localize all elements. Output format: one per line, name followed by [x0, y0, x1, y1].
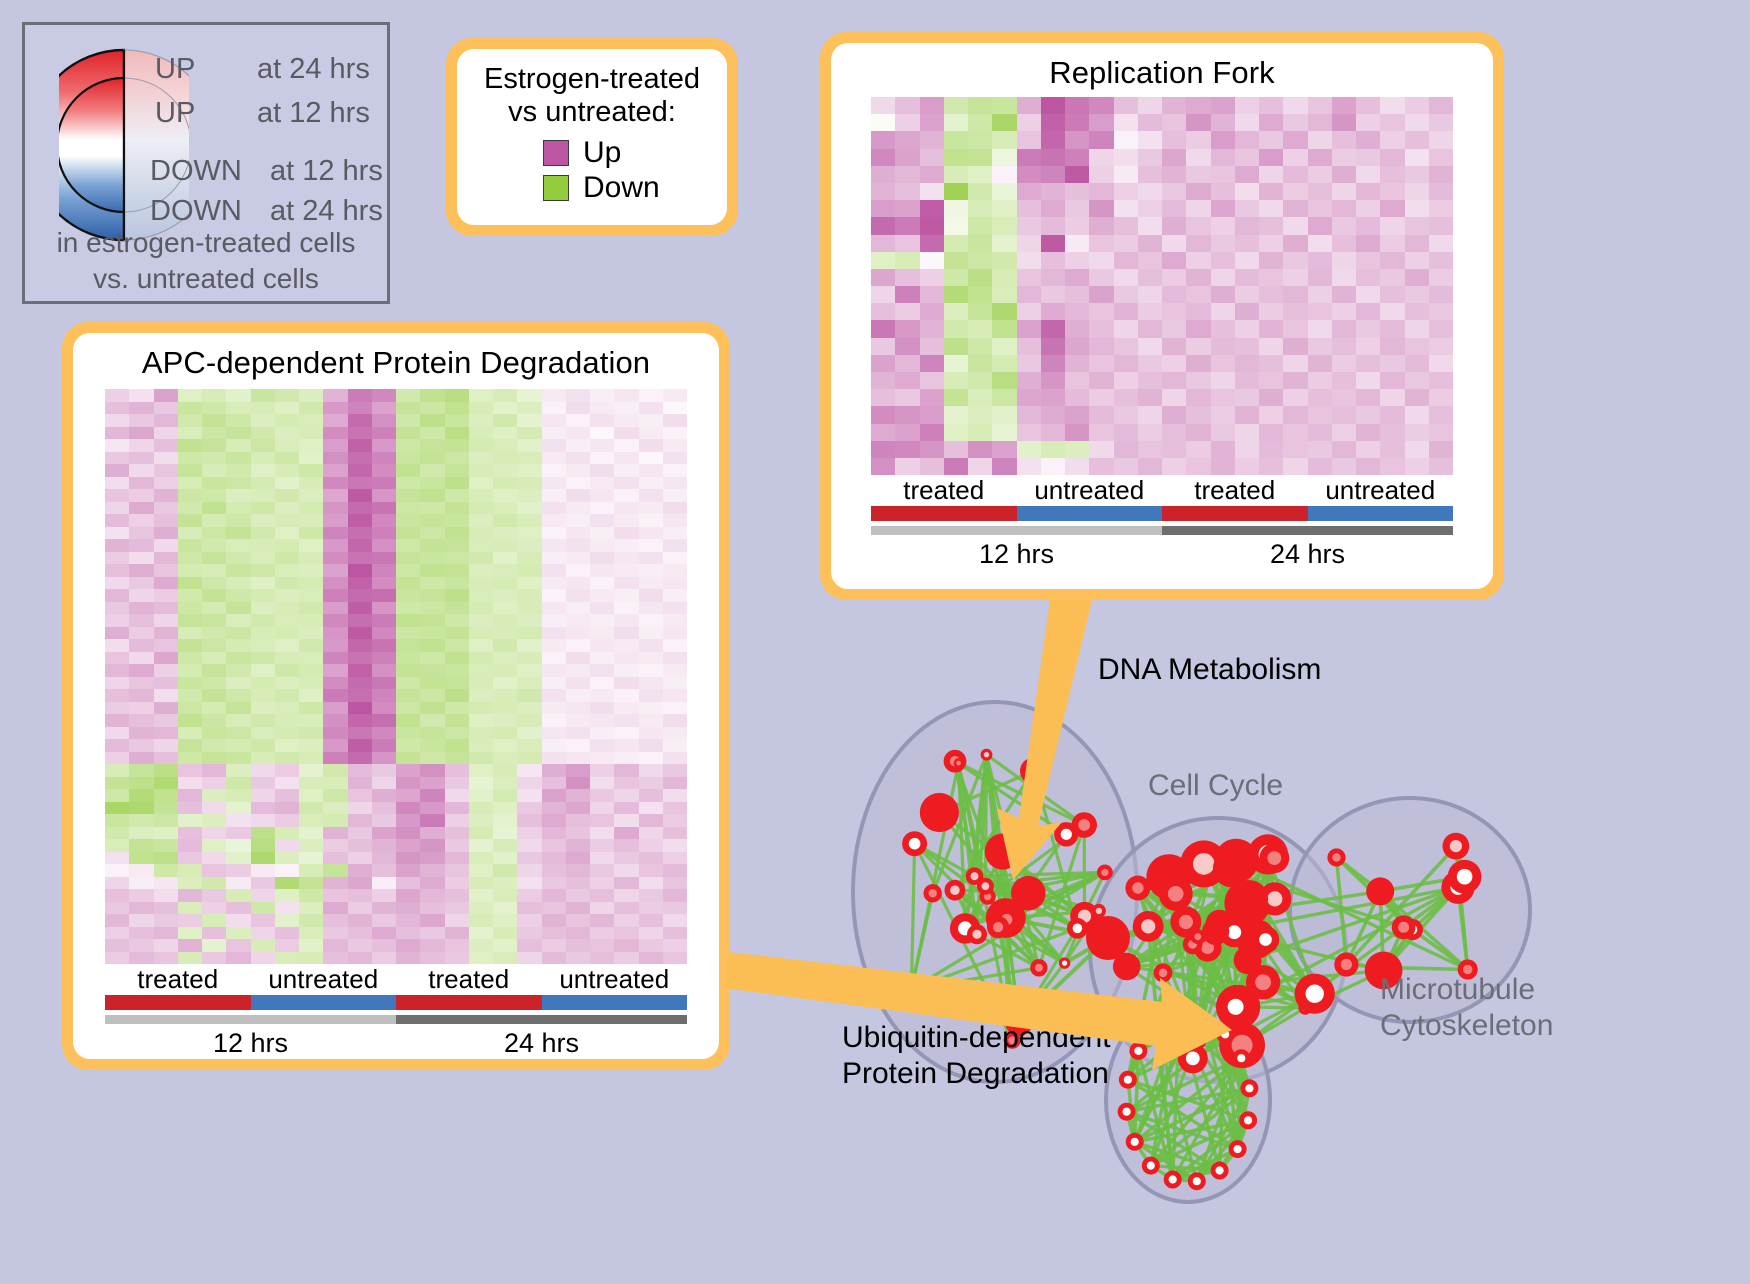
- heatmap-cell: [517, 539, 541, 552]
- heatmap-cell: [1017, 338, 1041, 355]
- heatmap-cell: [895, 97, 919, 114]
- heatmap-cell: [663, 789, 687, 802]
- heatmap-cell: [871, 286, 895, 303]
- heatmap-cell: [202, 739, 226, 752]
- key-items: Up Down: [467, 136, 717, 206]
- heatmap-cell: [445, 539, 469, 552]
- heatmap-cell: [1356, 217, 1380, 234]
- heatmap-cell: [275, 802, 299, 815]
- heatmap-cell: [663, 627, 687, 640]
- heatmap-cell: [1235, 458, 1259, 475]
- heatmap-cell: [1041, 200, 1065, 217]
- heatmap-cell: [469, 502, 493, 515]
- heatmap-cell: [639, 389, 663, 402]
- heatmap-cell: [129, 702, 153, 715]
- heatmap-cell: [1380, 389, 1404, 406]
- heatmap-cell: [968, 235, 992, 252]
- heatmap-cell: [1186, 406, 1210, 423]
- heatmap-cell: [992, 217, 1016, 234]
- heatmap-cell: [251, 527, 275, 540]
- network-node-core: [956, 761, 961, 766]
- heatmap-cell: [154, 827, 178, 840]
- heatmap-cell: [251, 389, 275, 402]
- heatmap-cell: [517, 427, 541, 440]
- heatmap-cell: [639, 727, 663, 740]
- apc-heatmap: [105, 389, 687, 964]
- heatmap-cell: [154, 402, 178, 415]
- heatmap-cell: [566, 814, 590, 827]
- heatmap-cell: [299, 802, 323, 815]
- heatmap-cell: [1235, 183, 1259, 200]
- heatmap-cell: [275, 827, 299, 840]
- heatmap-cell: [493, 814, 517, 827]
- heatmap-cell: [566, 502, 590, 515]
- heatmap-cell: [348, 764, 372, 777]
- heatmap-cell: [566, 677, 590, 690]
- heatmap-cell: [1162, 200, 1186, 217]
- heatmap-cell: [566, 689, 590, 702]
- heatmap-cell: [105, 564, 129, 577]
- heatmap-cell: [920, 286, 944, 303]
- heatmap-cell: [1235, 406, 1259, 423]
- heatmap-cell: [1017, 97, 1041, 114]
- heatmap-cell: [1356, 114, 1380, 131]
- heatmap-cell: [226, 789, 250, 802]
- heatmap-cell: [445, 589, 469, 602]
- heatmap-cell: [420, 652, 444, 665]
- heatmap-cell: [396, 689, 420, 702]
- heatmap-cell: [226, 527, 250, 540]
- heatmap-cell: [154, 614, 178, 627]
- heatmap-cell: [968, 252, 992, 269]
- heatmap-cell: [323, 727, 347, 740]
- heatmap-cell: [129, 827, 153, 840]
- heatmap-cell: [1259, 424, 1283, 441]
- heatmap-cell: [663, 539, 687, 552]
- heatmap-cell: [871, 149, 895, 166]
- network-node-core: [1175, 1015, 1183, 1023]
- heatmap-cell: [1065, 217, 1089, 234]
- network-node-core: [1341, 959, 1352, 970]
- heatmap-cell: [129, 614, 153, 627]
- heatmap-cell: [129, 852, 153, 865]
- heatmap-cell: [323, 402, 347, 415]
- heatmap-cell: [469, 789, 493, 802]
- heatmap-cell: [275, 939, 299, 952]
- heatmap-cell: [493, 452, 517, 465]
- heatmap-cell: [542, 389, 566, 402]
- heatmap-cell: [420, 527, 444, 540]
- heatmap-cell: [445, 789, 469, 802]
- heatmap-cell: [566, 402, 590, 415]
- heatmap-cell: [1405, 406, 1429, 423]
- heatmap-cell: [275, 589, 299, 602]
- heatmap-cell: [445, 839, 469, 852]
- heatmap-cell: [920, 338, 944, 355]
- heatmap-cell: [178, 589, 202, 602]
- heatmap-cell: [105, 502, 129, 515]
- heatmap-cell: [1065, 338, 1089, 355]
- heatmap-cell: [663, 839, 687, 852]
- heatmap-cell: [1017, 114, 1041, 131]
- heatmap-cell: [396, 802, 420, 815]
- heatmap-cell: [517, 739, 541, 752]
- heatmap-cell: [944, 303, 968, 320]
- heatmap-cell: [1162, 355, 1186, 372]
- heatmap-cell: [992, 286, 1016, 303]
- heatmap-cell: [251, 589, 275, 602]
- heatmap-cell: [614, 727, 638, 740]
- heatmap-cell: [323, 864, 347, 877]
- heatmap-cell: [517, 402, 541, 415]
- heatmap-cell: [275, 777, 299, 790]
- heatmap-cell: [154, 727, 178, 740]
- heatmap-cell: [251, 427, 275, 440]
- heatmap-cell: [1308, 303, 1332, 320]
- heatmap-cell: [920, 406, 944, 423]
- heatmap-cell: [372, 652, 396, 665]
- heatmap-cell: [226, 427, 250, 440]
- heatmap-cell: [590, 439, 614, 452]
- heatmap-cell: [348, 564, 372, 577]
- heatmap-cell: [323, 627, 347, 640]
- heatmap-cell: [517, 839, 541, 852]
- heatmap-cell: [1162, 441, 1186, 458]
- heatmap-cell: [614, 489, 638, 502]
- heatmap-cell: [105, 464, 129, 477]
- heatmap-cell: [1235, 252, 1259, 269]
- heatmap-cell: [663, 514, 687, 527]
- network-node-core: [950, 885, 960, 895]
- heatmap-cell: [663, 577, 687, 590]
- heatmap-cell: [1380, 131, 1404, 148]
- heatmap-cell: [348, 414, 372, 427]
- heatmap-cell: [129, 777, 153, 790]
- heatmap-cell: [275, 664, 299, 677]
- heatmap-cell: [1138, 217, 1162, 234]
- heatmap-cell: [944, 166, 968, 183]
- heatmap-cell: [1283, 235, 1307, 252]
- heatmap-cell: [992, 97, 1016, 114]
- heatmap-cell: [178, 864, 202, 877]
- heatmap-cell: [493, 652, 517, 665]
- heatmap-cell: [895, 131, 919, 148]
- heatmap-cell: [299, 439, 323, 452]
- heatmap-cell: [1259, 217, 1283, 234]
- heatmap-cell: [920, 183, 944, 200]
- heatmap-cell: [1235, 97, 1259, 114]
- heatmap-cell: [663, 952, 687, 965]
- heatmap-cell: [372, 927, 396, 940]
- heatmap-cell: [493, 402, 517, 415]
- heatmap-cell: [299, 702, 323, 715]
- heatmap-cell: [202, 477, 226, 490]
- heatmap-cell: [517, 802, 541, 815]
- heatmap-cell: [1235, 200, 1259, 217]
- heatmap-cell: [1259, 338, 1283, 355]
- heatmap-cell: [1259, 441, 1283, 458]
- ring-legend-time-1: at 12 hrs: [257, 97, 370, 130]
- heatmap-cell: [1429, 217, 1453, 234]
- heatmap-cell: [614, 439, 638, 452]
- heatmap-cell: [639, 777, 663, 790]
- heatmap-cell: [566, 489, 590, 502]
- ring-legend-time-0: at 24 hrs: [257, 53, 370, 86]
- apc-title: APC-dependent Protein Degradation: [73, 333, 719, 381]
- ring-legend-direction-2: DOWN: [150, 155, 242, 188]
- heatmap-cell: [1017, 286, 1041, 303]
- heatmap-cell: [105, 777, 129, 790]
- heatmap-cell: [299, 552, 323, 565]
- heatmap-cell: [1162, 320, 1186, 337]
- heatmap-cell: [1138, 355, 1162, 372]
- heatmap-cell: [420, 677, 444, 690]
- heatmap-cell: [469, 477, 493, 490]
- heatmap-cell: [871, 114, 895, 131]
- heatmap-cell: [105, 939, 129, 952]
- heatmap-cell: [420, 452, 444, 465]
- heatmap-cell: [348, 852, 372, 865]
- heatmap-cell: [493, 727, 517, 740]
- heatmap-cell: [1017, 131, 1041, 148]
- replication-fork-panel: Replication Fork treated untreated treat…: [820, 32, 1504, 600]
- heatmap-cell: [542, 839, 566, 852]
- heatmap-cell: [1429, 269, 1453, 286]
- heatmap-cell: [323, 589, 347, 602]
- heatmap-cell: [639, 652, 663, 665]
- heatmap-cell: [105, 764, 129, 777]
- heatmap-cell: [1041, 406, 1065, 423]
- heatmap-cell: [1259, 406, 1283, 423]
- heatmap-cell: [396, 564, 420, 577]
- heatmap-cell: [396, 539, 420, 552]
- heatmap-cell: [566, 427, 590, 440]
- heatmap-cell: [517, 764, 541, 777]
- heatmap-cell: [251, 814, 275, 827]
- heatmap-cell: [299, 452, 323, 465]
- heatmap-cell: [1332, 252, 1356, 269]
- heatmap-cell: [1405, 269, 1429, 286]
- heatmap-cell: [226, 877, 250, 890]
- heatmap-cell: [372, 614, 396, 627]
- heatmap-cell: [251, 952, 275, 965]
- heatmap-cell: [566, 702, 590, 715]
- heatmap-cell: [639, 427, 663, 440]
- heatmap-cell: [542, 627, 566, 640]
- heatmap-cell: [493, 864, 517, 877]
- network-node-core: [1061, 829, 1072, 840]
- heatmap-cell: [566, 514, 590, 527]
- heatmap-cell: [323, 777, 347, 790]
- heatmap-cell: [639, 927, 663, 940]
- heatmap-cell: [517, 527, 541, 540]
- heatmap-cell: [590, 702, 614, 715]
- heatmap-cell: [154, 839, 178, 852]
- heatmap-cell: [663, 802, 687, 815]
- heatmap-cell: [178, 627, 202, 640]
- heatmap-cell: [372, 914, 396, 927]
- heatmap-cell: [590, 502, 614, 515]
- heatmap-cell: [469, 852, 493, 865]
- heatmap-cell: [944, 389, 968, 406]
- heatmap-cell: [469, 439, 493, 452]
- heatmap-cell: [372, 477, 396, 490]
- heatmap-cell: [639, 914, 663, 927]
- heatmap-cell: [542, 589, 566, 602]
- heatmap-cell: [105, 664, 129, 677]
- heatmap-cell: [154, 802, 178, 815]
- network-node-core: [1131, 1138, 1139, 1146]
- heatmap-cell: [590, 589, 614, 602]
- heatmap-cell: [517, 902, 541, 915]
- heatmap-cell: [178, 452, 202, 465]
- heatmap-cell: [1017, 372, 1041, 389]
- heatmap-cell: [1429, 389, 1453, 406]
- heatmap-cell: [202, 902, 226, 915]
- heatmap-cell: [323, 602, 347, 615]
- heatmap-cell: [469, 927, 493, 940]
- heatmap-cell: [493, 739, 517, 752]
- heatmap-cell: [420, 402, 444, 415]
- heatmap-cell: [202, 527, 226, 540]
- heatmap-cell: [1308, 252, 1332, 269]
- heatmap-cell: [178, 677, 202, 690]
- heatmap-cell: [469, 514, 493, 527]
- heatmap-cell: [154, 564, 178, 577]
- heatmap-cell: [105, 714, 129, 727]
- heatmap-cell: [566, 802, 590, 815]
- heatmap-cell: [372, 764, 396, 777]
- network-node-core: [1152, 1025, 1160, 1033]
- heatmap-cell: [251, 414, 275, 427]
- heatmap-cell: [420, 914, 444, 927]
- heatmap-cell: [372, 802, 396, 815]
- heatmap-cell: [663, 827, 687, 840]
- heatmap-cell: [323, 414, 347, 427]
- apc-time-bar-0: [105, 1015, 396, 1024]
- heatmap-cell: [1429, 200, 1453, 217]
- heatmap-cell: [639, 939, 663, 952]
- heatmap-cell: [226, 602, 250, 615]
- network-node-core: [1228, 999, 1244, 1015]
- heatmap-cell: [1114, 320, 1138, 337]
- heatmap-cell: [1186, 320, 1210, 337]
- heatmap-cell: [372, 602, 396, 615]
- heatmap-cell: [323, 702, 347, 715]
- heatmap-cell: [202, 539, 226, 552]
- apc-time-bars: [105, 1015, 687, 1024]
- heatmap-cell: [129, 889, 153, 902]
- replication-fork-title: Replication Fork: [831, 43, 1493, 91]
- heatmap-cell: [226, 589, 250, 602]
- heatmap-cell: [396, 627, 420, 640]
- heatmap-cell: [517, 414, 541, 427]
- heatmap-cell: [348, 452, 372, 465]
- heatmap-cell: [275, 602, 299, 615]
- heatmap-cell: [469, 777, 493, 790]
- heatmap-cell: [105, 702, 129, 715]
- heatmap-cell: [1380, 458, 1404, 475]
- heatmap-cell: [299, 852, 323, 865]
- heatmap-cell: [154, 714, 178, 727]
- heatmap-cell: [1114, 458, 1138, 475]
- heatmap-cell: [469, 489, 493, 502]
- heatmap-cell: [105, 852, 129, 865]
- heatmap-cell: [614, 564, 638, 577]
- heatmap-cell: [566, 527, 590, 540]
- heatmap-cell: [154, 502, 178, 515]
- heatmap-cell: [517, 727, 541, 740]
- heatmap-cell: [1138, 441, 1162, 458]
- heatmap-cell: [1041, 166, 1065, 183]
- heatmap-cell: [1259, 372, 1283, 389]
- heatmap-cell: [445, 439, 469, 452]
- heatmap-cell: [154, 639, 178, 652]
- heatmap-cell: [323, 477, 347, 490]
- heatmap-cell: [469, 627, 493, 640]
- heatmap-cell: [445, 927, 469, 940]
- heatmap-cell: [420, 439, 444, 452]
- heatmap-cell: [944, 441, 968, 458]
- heatmap-cell: [178, 652, 202, 665]
- heatmap-cell: [178, 427, 202, 440]
- heatmap-cell: [178, 752, 202, 765]
- heatmap-cell: [178, 577, 202, 590]
- heatmap-cell: [663, 452, 687, 465]
- heatmap-cell: [1114, 406, 1138, 423]
- heatmap-cell: [663, 664, 687, 677]
- heatmap-cell: [275, 564, 299, 577]
- heatmap-cell: [251, 402, 275, 415]
- heatmap-cell: [445, 402, 469, 415]
- heatmap-cell: [1380, 200, 1404, 217]
- heatmap-cell: [251, 739, 275, 752]
- heatmap-cell: [1138, 320, 1162, 337]
- heatmap-cell: [542, 539, 566, 552]
- heatmap-cell: [348, 589, 372, 602]
- heatmap-cell: [992, 355, 1016, 372]
- heatmap-cell: [1186, 200, 1210, 217]
- heatmap-cell: [1114, 235, 1138, 252]
- heatmap-cell: [1332, 303, 1356, 320]
- heatmap-cell: [1065, 183, 1089, 200]
- heatmap-cell: [226, 514, 250, 527]
- heatmap-cell: [396, 727, 420, 740]
- heatmap-cell: [590, 939, 614, 952]
- heatmap-cell: [590, 927, 614, 940]
- heatmap-cell: [944, 149, 968, 166]
- heatmap-cell: [493, 514, 517, 527]
- heatmap-cell: [663, 389, 687, 402]
- heatmap-cell: [590, 677, 614, 690]
- heatmap-cell: [1065, 131, 1089, 148]
- heatmap-cell: [590, 714, 614, 727]
- heatmap-cell: [1186, 441, 1210, 458]
- heatmap-cell: [1235, 131, 1259, 148]
- heatmap-cell: [251, 514, 275, 527]
- heatmap-cell: [251, 939, 275, 952]
- heatmap-cell: [590, 864, 614, 877]
- heatmap-cell: [517, 389, 541, 402]
- heatmap-cell: [178, 739, 202, 752]
- heatmap-cell: [445, 489, 469, 502]
- heatmap-cell: [590, 452, 614, 465]
- heatmap-cell: [1162, 235, 1186, 252]
- heatmap-cell: [1380, 217, 1404, 234]
- heatmap-cell: [129, 664, 153, 677]
- heatmap-cell: [469, 602, 493, 615]
- heatmap-cell: [1017, 303, 1041, 320]
